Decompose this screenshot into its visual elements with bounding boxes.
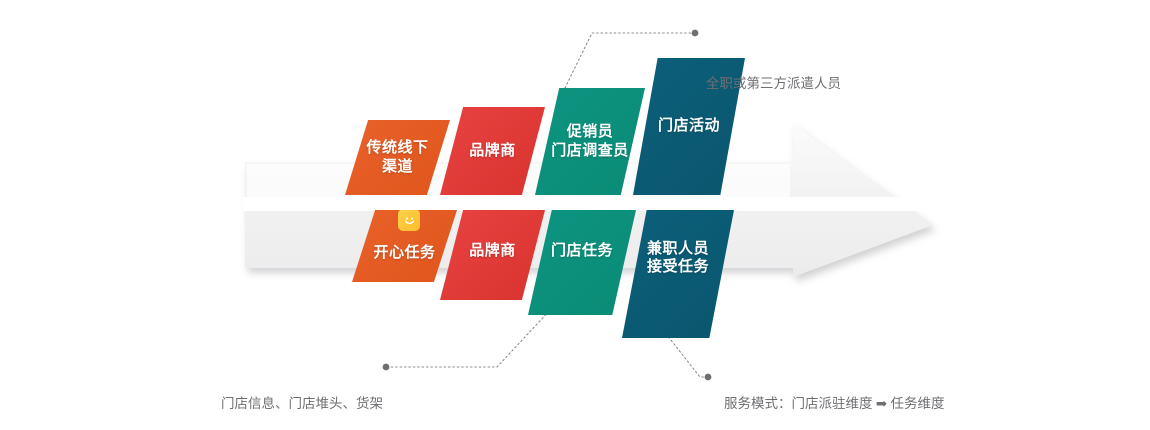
connector-data-collection-note [383,308,552,370]
stage-label: 开心任务 [373,244,435,262]
stage-promoter-investigator[interactable]: 促销员 门店调查员 [535,88,645,195]
annotation-service-model-note: 服务模式：门店派驻维度 ➡ 任务维度 人员合作：长期合约 ➡ 短期碎片工单模式 [724,342,972,430]
annotation-data-collection-note: 门店信息、门店堆头、货架 数据采集、销量上报 [221,342,383,430]
stage-label: 品牌商 [469,142,516,160]
stage-brand-owner-top[interactable]: 品牌商 [440,107,545,195]
smiley-face-icon [398,209,420,231]
stage-label: 品牌商 [469,242,516,260]
diagram-canvas: 传统线下 渠道 品牌商 促销员 门店调查员 门店活动 开心任务 品牌商 门店任务… [0,0,1150,430]
stage-label: 门店任务 [551,242,613,260]
annotation-line: 门店信息、门店堆头、货架 [221,392,383,417]
stage-happy-task[interactable]: 开心任务 [352,210,457,282]
annotation-line: 全职或第三方派遣人员 [706,72,841,97]
stage-label: 传统线下 渠道 [366,139,428,176]
stage-traditional-channel[interactable]: 传统线下 渠道 [345,120,450,195]
stage-part-timer-accept[interactable]: 兼职人员 接受任务 [622,210,734,338]
stage-brand-owner-bottom[interactable]: 品牌商 [440,210,545,300]
annotation-staffing-note: 全职或第三方派遣人员 [706,22,841,147]
stage-label: 兼职人员 接受任务 [647,240,709,277]
stage-label: 促销员 门店调查员 [551,123,629,160]
stage-store-task[interactable]: 门店任务 [528,210,636,315]
annotation-line: 服务模式：门店派驻维度 ➡ 任务维度 [724,392,972,417]
